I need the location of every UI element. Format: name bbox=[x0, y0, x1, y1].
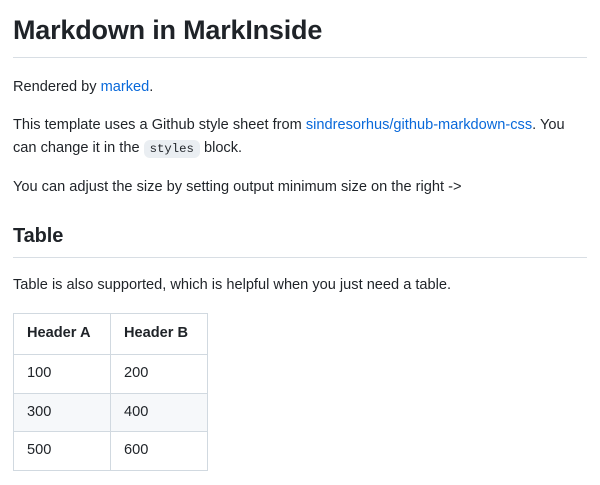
data-table: Header A Header B 100 200 300 400 500 60… bbox=[13, 313, 208, 472]
table-row: 300 400 bbox=[14, 393, 208, 432]
spacer bbox=[13, 198, 587, 224]
table-cell: 300 bbox=[14, 393, 111, 432]
rendered-by-prefix: Rendered by bbox=[13, 79, 101, 95]
spacer bbox=[13, 258, 587, 274]
page-title: Markdown in MarkInside bbox=[13, 14, 587, 57]
styles-inline-code: styles bbox=[144, 140, 200, 158]
marked-link[interactable]: marked bbox=[101, 79, 150, 95]
table-header: Header A Header B bbox=[14, 313, 208, 354]
table-cell: 100 bbox=[14, 354, 111, 393]
spacer bbox=[13, 58, 587, 76]
paragraph-template-info: This template uses a Github style sheet … bbox=[13, 114, 587, 159]
rendered-by-suffix: . bbox=[149, 79, 153, 95]
table-header-cell-b: Header B bbox=[111, 313, 208, 354]
table-header-row: Header A Header B bbox=[14, 313, 208, 354]
table-header-cell-a: Header A bbox=[14, 313, 111, 354]
spacer bbox=[13, 160, 587, 176]
paragraph-rendered-by: Rendered by marked. bbox=[13, 76, 587, 99]
table-cell: 400 bbox=[111, 393, 208, 432]
github-markdown-css-link[interactable]: sindresorhus/github-markdown-css bbox=[306, 117, 532, 133]
template-info-suffix: block. bbox=[200, 140, 242, 156]
table-row: 500 600 bbox=[14, 432, 208, 471]
table-cell: 600 bbox=[111, 432, 208, 471]
spacer bbox=[13, 98, 587, 114]
paragraph-table-intro: Table is also supported, which is helpfu… bbox=[13, 274, 587, 297]
markdown-document: Markdown in MarkInside Rendered by marke… bbox=[0, 0, 600, 471]
template-info-prefix: This template uses a Github style sheet … bbox=[13, 117, 306, 133]
spacer bbox=[13, 297, 587, 313]
table-cell: 500 bbox=[14, 432, 111, 471]
section-heading-table: Table bbox=[13, 224, 587, 257]
paragraph-adjust-size: You can adjust the size by setting outpu… bbox=[13, 176, 587, 199]
table-cell: 200 bbox=[111, 354, 208, 393]
table-body: 100 200 300 400 500 600 bbox=[14, 354, 208, 471]
table-row: 100 200 bbox=[14, 354, 208, 393]
